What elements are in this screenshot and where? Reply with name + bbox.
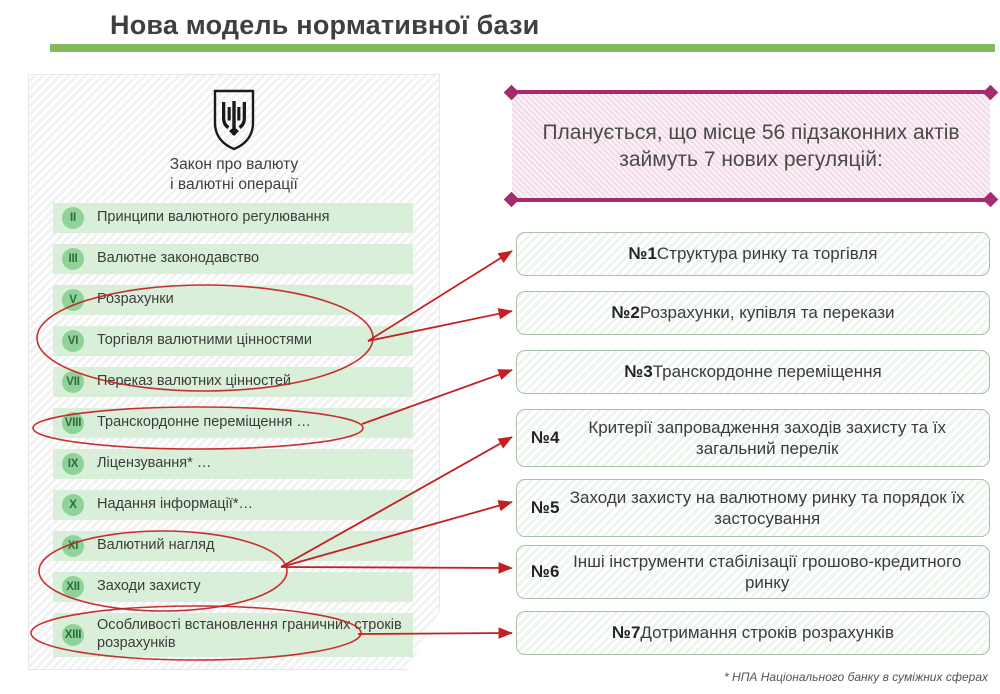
law-heading-line-1: Закон про валюту	[29, 155, 439, 175]
callout-text: Планується, що місце 56 підзаконних акті…	[512, 119, 990, 174]
chapter-numeral-badge: X	[62, 494, 84, 516]
chapter-row[interactable]: VIIПереказ валютних цінностей	[53, 367, 413, 397]
regulation-number: №6	[531, 561, 559, 582]
chapter-numeral-badge: III	[62, 248, 84, 270]
chapter-row[interactable]: XIIIОсобливості встановлення граничних с…	[53, 613, 413, 657]
regulation-number: №1	[629, 243, 657, 264]
chapter-label: Принципи валютного регулювання	[97, 209, 330, 227]
regulation-label: Дотримання строків розрахунків	[640, 622, 894, 643]
ukraine-trident-emblem	[211, 89, 257, 151]
regulation-number: №3	[624, 361, 652, 382]
chapter-numeral-badge: XII	[62, 576, 84, 598]
chapter-numeral-badge: IX	[62, 453, 84, 475]
regulation-number: №5	[531, 497, 559, 518]
chapter-label: Валютне законодавство	[97, 250, 259, 268]
regulation-number: №7	[612, 622, 640, 643]
chapter-label: Ліцензування* …	[97, 455, 211, 473]
chapter-row[interactable]: IXЛіцензування* …	[53, 449, 413, 479]
diamond-cap-icon	[983, 192, 999, 208]
regulation-label: Заходи захисту на валютному ринку та пор…	[559, 487, 975, 530]
callout-box: Планується, що місце 56 підзаконних акті…	[512, 90, 990, 202]
chapter-row[interactable]: VIТоргівля валютними цінностями	[53, 326, 413, 356]
regulation-box[interactable]: №3 Транскордонне переміщення	[516, 350, 990, 394]
diamond-cap-icon	[504, 192, 520, 208]
regulation-box[interactable]: №7 Дотримання строків розрахунків	[516, 611, 990, 655]
regulation-box[interactable]: №4 Критерії запровадження заходів захист…	[516, 409, 990, 467]
chapter-numeral-badge: V	[62, 289, 84, 311]
chapter-row[interactable]: VIIIТранскордонне переміщення …	[53, 408, 413, 438]
chapter-label: Надання інформації*…	[97, 496, 253, 514]
chapter-row[interactable]: XIIЗаходи захисту	[53, 572, 413, 602]
chapter-label: Розрахунки	[97, 291, 174, 309]
regulation-box[interactable]: №1 Структура ринку та торгівля	[516, 232, 990, 276]
chapter-label: Переказ валютних цінностей	[97, 373, 291, 391]
chapter-numeral-badge: XI	[62, 535, 84, 557]
regulation-box[interactable]: №6 Інші інструменти стабілізації грошово…	[516, 545, 990, 599]
regulation-label: Транскордонне переміщення	[653, 361, 882, 382]
diamond-cap-icon	[504, 85, 520, 101]
regulation-label: Інші інструменти стабілізації грошово-кр…	[559, 551, 975, 594]
regulation-box[interactable]: №5 Заходи захисту на валютному ринку та …	[516, 479, 990, 537]
title-underline-rule	[50, 44, 995, 52]
chapter-label: Торгівля валютними цінностями	[97, 332, 312, 350]
law-panel-heading: Закон про валюту і валютні операції	[29, 155, 439, 196]
chapter-label: Валютний нагляд	[97, 537, 214, 555]
footnote: * НПА Національного банку в суміжних сфе…	[724, 670, 988, 684]
diamond-cap-icon	[983, 85, 999, 101]
chapter-numeral-badge: VI	[62, 330, 84, 352]
chapter-list: IIПринципи валютного регулюванняIIIВалют…	[53, 203, 413, 668]
law-heading-line-2: і валютні операції	[29, 175, 439, 195]
chapter-label: Транскордонне переміщення …	[97, 414, 311, 432]
chapter-label: Заходи захисту	[97, 578, 201, 596]
chapter-label: Особливості встановлення граничних строк…	[97, 617, 413, 652]
regulation-label: Критерії запровадження заходів захисту т…	[559, 417, 975, 460]
chapter-row[interactable]: XНадання інформації*…	[53, 490, 413, 520]
regulation-number: №4	[531, 427, 559, 448]
chapter-row[interactable]: IIПринципи валютного регулювання	[53, 203, 413, 233]
chapter-row[interactable]: XIВалютний нагляд	[53, 531, 413, 561]
chapter-numeral-badge: II	[62, 207, 84, 229]
chapter-row[interactable]: VРозрахунки	[53, 285, 413, 315]
regulation-label: Структура ринку та торгівля	[657, 243, 878, 264]
regulation-number: №2	[611, 302, 639, 323]
page-title: Нова модель нормативної бази	[110, 10, 539, 41]
regulation-box[interactable]: №2 Розрахунки, купівля та перекази	[516, 291, 990, 335]
chapter-row[interactable]: IIIВалютне законодавство	[53, 244, 413, 274]
regulation-label: Розрахунки, купівля та перекази	[640, 302, 895, 323]
law-panel: Закон про валюту і валютні операції IIПр…	[28, 74, 440, 670]
chapter-numeral-badge: XIII	[62, 624, 84, 646]
chapter-numeral-badge: VII	[62, 371, 84, 393]
chapter-numeral-badge: VIII	[62, 412, 84, 434]
